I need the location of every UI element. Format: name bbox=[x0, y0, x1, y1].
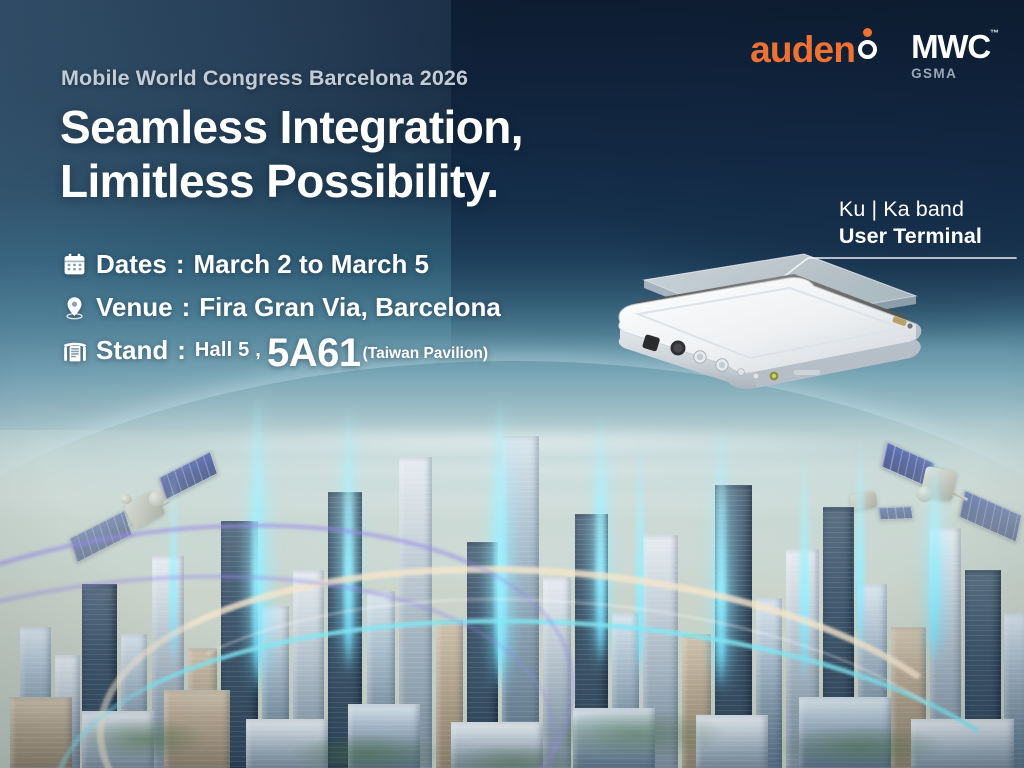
person-dot-ring-icon bbox=[857, 28, 879, 68]
mwc-logo[interactable]: MWC™ GSMA bbox=[911, 28, 990, 81]
detail-row-stand: Stand : Hall 5 , 5A61 (Taiwan Pavilion) bbox=[62, 329, 501, 372]
detail-row-venue: Venue : Fira Gran Via, Barcelona bbox=[62, 286, 501, 329]
auden-dot bbox=[863, 28, 872, 37]
page-title: Seamless Integration, Limitless Possibil… bbox=[60, 100, 523, 209]
detail-label-stand: Stand bbox=[96, 335, 168, 366]
auden-logo[interactable]: auden bbox=[750, 28, 879, 68]
light-beam bbox=[856, 434, 864, 656]
trademark-icon: ™ bbox=[990, 29, 999, 38]
detail-value-hall: Hall 5 , bbox=[195, 339, 261, 362]
product-callout: Ku | Ka band User Terminal bbox=[839, 196, 982, 249]
location-pin-icon bbox=[62, 295, 96, 320]
auden-ring bbox=[858, 40, 877, 59]
satellite-user-terminal-device bbox=[598, 248, 948, 408]
detail-separator: : bbox=[168, 335, 195, 366]
page-eyebrow: Mobile World Congress Barcelona 2026 bbox=[61, 66, 468, 91]
callout-band-label: Ku | Ka band bbox=[839, 196, 982, 223]
auden-wordmark: auden bbox=[750, 31, 855, 68]
detail-label-venue: Venue bbox=[96, 292, 173, 323]
detail-row-dates: Dates : March 2 to March 5 bbox=[62, 243, 501, 286]
detail-value-booth: 5A61 bbox=[261, 331, 363, 376]
detail-value-venue: Fira Gran Via, Barcelona bbox=[199, 292, 501, 323]
detail-separator: : bbox=[167, 249, 194, 280]
light-beam bbox=[924, 446, 946, 670]
detail-separator: : bbox=[173, 292, 200, 323]
headline-line-2: Limitless Possibility. bbox=[60, 154, 523, 208]
calendar-icon bbox=[62, 252, 96, 277]
logo-group: auden MWC™ GSMA bbox=[750, 28, 990, 81]
detail-label-dates: Dates bbox=[96, 249, 167, 280]
headline-line-1: Seamless Integration, bbox=[60, 100, 523, 154]
mwc-wordmark: MWC™ bbox=[911, 30, 990, 63]
promo-poster: auden MWC™ GSMA Mobile World Congress Ba… bbox=[0, 0, 1024, 768]
exhibition-booth-icon bbox=[62, 338, 96, 364]
gsma-subtitle: GSMA bbox=[911, 66, 990, 81]
event-details-list: Dates : March 2 to March 5 Venue : Fira … bbox=[62, 243, 501, 372]
detail-value-dates: March 2 to March 5 bbox=[194, 249, 430, 280]
detail-value-pavilion: (Taiwan Pavilion) bbox=[363, 345, 488, 363]
mwc-text: MWC bbox=[911, 28, 990, 65]
